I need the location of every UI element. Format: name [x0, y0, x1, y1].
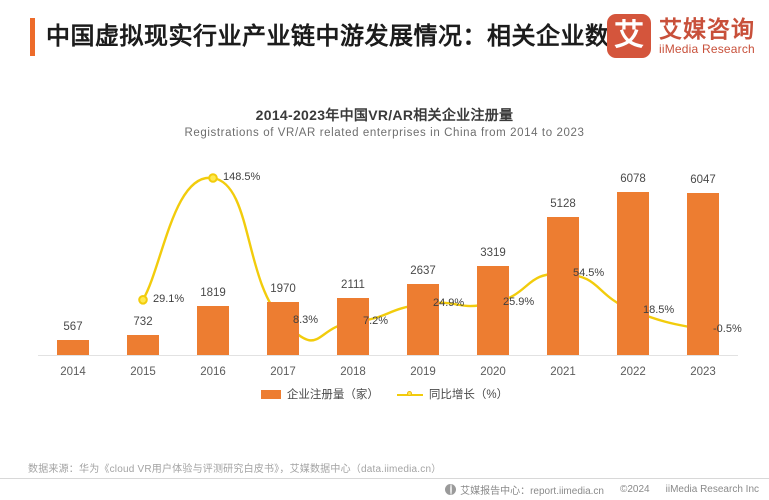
brand-logo: 艾 艾媒咨询 iiMedia Research — [607, 14, 755, 58]
x-axis-label-2023: 2023 — [668, 366, 738, 378]
chart-legend: 企业注册量（家） 同比增长（%） — [0, 386, 769, 402]
bar-2021[interactable] — [547, 217, 579, 355]
title-accent-bar — [30, 18, 35, 56]
growth-value-label-2022: 18.5% — [643, 304, 674, 316]
footer-report-center[interactable]: 艾媒报告中心：report.iimedia.cn — [445, 482, 604, 497]
growth-value-label-2019: 24.9% — [433, 297, 464, 309]
footer-report-center-label: 艾媒报告中心：report.iimedia.cn — [460, 482, 604, 497]
globe-icon — [445, 484, 456, 495]
legend-bar-label: 企业注册量（家） — [287, 386, 379, 402]
growth-value-label-2021: 54.5% — [573, 267, 604, 279]
logo-text: 艾媒咨询 iiMedia Research — [659, 16, 755, 57]
growth-line-layer — [0, 0, 769, 500]
footer-copyright: ©2024 — [620, 484, 650, 495]
bar-value-label-2015: 732 — [108, 316, 178, 328]
growth-value-label-2018: 7.2% — [363, 315, 388, 327]
growth-value-label-2023: -0.5% — [713, 323, 742, 335]
x-axis-label-2017: 2017 — [248, 366, 318, 378]
x-axis-label-2020: 2020 — [458, 366, 528, 378]
bar-2015[interactable] — [127, 335, 159, 355]
bar-2017[interactable] — [267, 302, 299, 355]
legend-item-bar[interactable]: 企业注册量（家） — [261, 386, 379, 402]
legend-item-line[interactable]: 同比增长（%） — [397, 386, 508, 402]
bar-value-label-2020: 3319 — [458, 247, 528, 259]
bar-2019[interactable] — [407, 284, 439, 355]
x-axis-label-2016: 2016 — [178, 366, 248, 378]
bar-value-label-2016: 1819 — [178, 287, 248, 299]
growth-line — [143, 178, 703, 341]
bar-2016[interactable] — [197, 306, 229, 355]
bar-2014[interactable] — [57, 340, 89, 355]
chart-subtitle: Registrations of VR/AR related enterpris… — [0, 127, 769, 139]
logo-name-en: iiMedia Research — [659, 42, 755, 57]
bar-value-label-2014: 567 — [38, 321, 108, 333]
logo-name-cn: 艾媒咨询 — [659, 16, 755, 42]
growth-value-label-2015: 29.1% — [153, 293, 184, 305]
growth-point-2017[interactable] — [279, 317, 287, 325]
legend-bar-swatch-icon — [261, 390, 281, 399]
growth-point-2015[interactable] — [139, 296, 147, 304]
x-axis-label-2022: 2022 — [598, 366, 668, 378]
bar-2023[interactable] — [687, 193, 719, 355]
x-axis-label-2015: 2015 — [108, 366, 178, 378]
x-axis-label-2019: 2019 — [388, 366, 458, 378]
footer-bar: 艾媒报告中心：report.iimedia.cn ©2024 iiMedia R… — [0, 478, 769, 500]
growth-point-2023[interactable] — [699, 326, 707, 334]
growth-point-2016[interactable] — [209, 174, 217, 182]
x-axis-label-2014: 2014 — [38, 366, 108, 378]
footer-company: iiMedia Research Inc — [666, 484, 759, 495]
bar-2020[interactable] — [477, 266, 509, 355]
growth-point-2021[interactable] — [559, 270, 567, 278]
growth-value-label-2020: 25.9% — [503, 296, 534, 308]
bar-value-label-2023: 6047 — [668, 174, 738, 186]
logo-mark-icon: 艾 — [607, 14, 651, 58]
chart-title: 2014-2023年中国VR/AR相关企业注册量 — [0, 105, 769, 125]
chart-plot-area: 5672014732201518192016197020172111201826… — [0, 0, 769, 500]
growth-point-2018[interactable] — [349, 318, 357, 326]
source-note: 数据来源：华为《cloud VR用户体验与评测研究白皮书》，艾媒数据中心（dat… — [28, 460, 441, 475]
x-axis-line — [38, 355, 738, 356]
x-axis-label-2018: 2018 — [318, 366, 388, 378]
bar-value-label-2017: 1970 — [248, 283, 318, 295]
growth-value-label-2016: 148.5% — [223, 171, 260, 183]
bar-value-label-2019: 2637 — [388, 265, 458, 277]
growth-value-label-2017: 8.3% — [293, 314, 318, 326]
bar-value-label-2022: 6078 — [598, 173, 668, 185]
growth-point-2020[interactable] — [489, 299, 497, 307]
x-axis-label-2021: 2021 — [528, 366, 598, 378]
growth-point-2019[interactable] — [419, 300, 427, 308]
growth-point-2022[interactable] — [629, 307, 637, 315]
bar-value-label-2018: 2111 — [318, 279, 388, 291]
legend-line-swatch-icon — [397, 390, 423, 399]
bar-2022[interactable] — [617, 192, 649, 355]
bar-2018[interactable] — [337, 298, 369, 355]
legend-line-label: 同比增长（%） — [429, 386, 508, 402]
page-header: 中国虚拟现实行业产业链中游发展情况：相关企业数量 艾 艾媒咨询 iiMedia … — [0, 0, 769, 72]
page-title: 中国虚拟现实行业产业链中游发展情况：相关企业数量 — [46, 18, 634, 56]
bar-value-label-2021: 5128 — [528, 198, 598, 210]
